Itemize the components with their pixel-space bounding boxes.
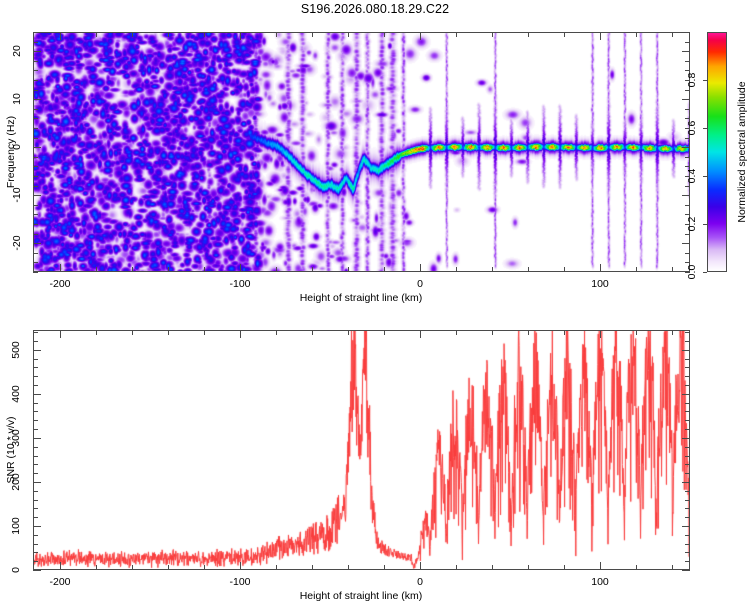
spectrogram-xtick-minor: [312, 267, 313, 272]
spectrogram-ytick-minor: [33, 176, 38, 177]
spectrogram-xtick-minor: [492, 267, 493, 272]
snr-xtick-minor: [276, 565, 277, 570]
spectrogram-ytick-minor: [685, 32, 690, 33]
snr-ytick-minor: [33, 420, 38, 421]
snr-ytick-minor: [685, 403, 690, 404]
figure-title: S196.2026.080.18.29.C22: [0, 2, 750, 16]
spectrogram-ytick-minor: [685, 109, 690, 110]
spectrogram-xtick-major: [240, 32, 241, 40]
snr-ytick-major: [33, 350, 41, 351]
colorbar: [707, 32, 727, 272]
spectrogram-xtick-minor: [636, 32, 637, 37]
snr-xticklabel: -200: [49, 576, 70, 588]
snr-xtick-minor: [492, 330, 493, 335]
colorbar-tick: [703, 128, 707, 129]
snr-yticklabel: 100: [10, 514, 22, 538]
snr-xtick-minor: [672, 565, 673, 570]
snr-ytick-minor: [685, 376, 690, 377]
spectrogram-ytick-minor: [33, 234, 38, 235]
snr-ytick-major: [682, 394, 690, 395]
spectrogram-xtick-major: [60, 32, 61, 40]
snr-ytick-minor: [33, 456, 38, 457]
spectrogram-ytick-minor: [33, 157, 38, 158]
snr-xtick-minor: [96, 565, 97, 570]
spectrogram-xtick-major: [60, 264, 61, 272]
spectrogram-yaxis-title: Frequency (Hz): [5, 116, 17, 188]
snr-ytick-major: [682, 570, 690, 571]
snr-ytick-minor: [33, 367, 38, 368]
spectrogram-ytick-minor: [33, 214, 38, 215]
snr-ytick-minor: [685, 332, 690, 333]
snr-xtick-minor: [636, 565, 637, 570]
spectrogram-panel: [33, 32, 690, 272]
spectrogram-ytick-minor: [33, 32, 38, 33]
spectrogram-ytick-major: [33, 243, 41, 244]
snr-ytick-major: [33, 526, 41, 527]
spectrogram-ytick-major: [682, 51, 690, 52]
colorbar-tick: [703, 272, 707, 273]
snr-ytick-minor: [685, 456, 690, 457]
spectrogram-ytick-minor: [33, 118, 38, 119]
snr-ytick-minor: [685, 491, 690, 492]
snr-xtick-minor: [276, 330, 277, 335]
spectrogram-ytick-major: [682, 99, 690, 100]
spectrogram-xtick-minor: [168, 267, 169, 272]
snr-ytick-minor: [685, 447, 690, 448]
snr-ytick-minor: [33, 517, 38, 518]
snr-ytick-minor: [33, 411, 38, 412]
spectrogram-ytick-minor: [33, 262, 38, 263]
snr-ytick-minor: [33, 552, 38, 553]
snr-yticklabel: 0: [10, 558, 22, 582]
snr-xtick-minor: [672, 330, 673, 335]
snr-ytick-minor: [33, 447, 38, 448]
colorbar-ticklabel: 0.4: [686, 165, 698, 187]
spectrogram-image: [34, 33, 689, 271]
snr-xtick-major: [240, 330, 241, 338]
snr-ytick-minor: [685, 411, 690, 412]
spectrogram-ytick-minor: [685, 42, 690, 43]
spectrogram-xtick-minor: [492, 32, 493, 37]
snr-xtick-minor: [492, 565, 493, 570]
snr-ytick-minor: [685, 359, 690, 360]
spectrogram-xtick-minor: [348, 32, 349, 37]
snr-ytick-minor: [685, 341, 690, 342]
spectrogram-xtick-minor: [456, 267, 457, 272]
spectrogram-ytick-minor: [33, 128, 38, 129]
snr-xticklabel: 0: [417, 576, 423, 588]
spectrogram-yticklabel: 20: [11, 40, 23, 62]
spectrogram-ytick-minor: [33, 224, 38, 225]
snr-ytick-minor: [685, 561, 690, 562]
snr-xaxis-title: Height of straight line (km): [300, 590, 423, 602]
spectrogram-xtick-minor: [204, 32, 205, 37]
spectrogram-ytick-minor: [33, 186, 38, 187]
snr-xtick-major: [600, 562, 601, 570]
snr-yaxis-title: SNR (10 * v/v): [5, 416, 17, 483]
spectrogram-ytick-minor: [33, 80, 38, 81]
spectrogram-yticklabel: -20: [11, 232, 23, 254]
colorbar-ticklabel: 0.2: [686, 213, 698, 235]
snr-ytick-major: [682, 526, 690, 527]
spectrogram-xtick-minor: [564, 267, 565, 272]
snr-xtick-minor: [348, 565, 349, 570]
spectrogram-xtick-minor: [276, 267, 277, 272]
spectrogram-xtick-minor: [312, 32, 313, 37]
figure-root: S196.2026.080.18.29.C22 -200-1000100-20-…: [0, 0, 750, 600]
spectrogram-ytick-major: [682, 195, 690, 196]
spectrogram-ytick-minor: [685, 205, 690, 206]
snr-xticklabel: 100: [591, 576, 609, 588]
spectrogram-ytick-minor: [33, 109, 38, 110]
colorbar-ticklabel: 0.8: [686, 69, 698, 91]
spectrogram-xtick-minor: [528, 32, 529, 37]
snr-ytick-minor: [33, 561, 38, 562]
spectrogram-xtick-major: [420, 32, 421, 40]
snr-ytick-minor: [685, 544, 690, 545]
spectrogram-ytick-minor: [33, 138, 38, 139]
spectrogram-ytick-major: [33, 195, 41, 196]
snr-xtick-minor: [564, 565, 565, 570]
spectrogram-xtick-major: [600, 264, 601, 272]
snr-ytick-minor: [685, 535, 690, 536]
spectrogram-xtick-minor: [96, 32, 97, 37]
spectrogram-xticklabel: -200: [49, 278, 70, 290]
spectrogram-xtick-minor: [168, 32, 169, 37]
snr-xtick-minor: [132, 330, 133, 335]
spectrogram-ytick-major: [33, 147, 41, 148]
snr-xtick-major: [420, 330, 421, 338]
spectrogram-ytick-minor: [33, 166, 38, 167]
spectrogram-plot-area: [34, 33, 689, 271]
snr-ytick-minor: [685, 420, 690, 421]
snr-ytick-minor: [33, 376, 38, 377]
snr-ytick-minor: [33, 464, 38, 465]
snr-ytick-minor: [685, 367, 690, 368]
spectrogram-xtick-minor: [672, 267, 673, 272]
spectrogram-ytick-minor: [685, 61, 690, 62]
spectrogram-xticklabel: -100: [229, 278, 250, 290]
snr-trace: [34, 331, 689, 569]
snr-xtick-minor: [564, 330, 565, 335]
spectrogram-ytick-minor: [33, 61, 38, 62]
snr-xtick-minor: [132, 565, 133, 570]
snr-ytick-minor: [685, 429, 690, 430]
snr-xtick-major: [600, 330, 601, 338]
snr-ytick-minor: [685, 464, 690, 465]
snr-ytick-minor: [685, 473, 690, 474]
spectrogram-xticklabel: 100: [591, 278, 609, 290]
snr-ytick-minor: [33, 544, 38, 545]
snr-ytick-major: [682, 438, 690, 439]
spectrogram-xtick-minor: [132, 267, 133, 272]
snr-xtick-major: [60, 562, 61, 570]
spectrogram-xtick-major: [420, 264, 421, 272]
snr-xtick-minor: [636, 330, 637, 335]
spectrogram-xtick-minor: [528, 267, 529, 272]
snr-ytick-minor: [33, 508, 38, 509]
spectrogram-ytick-minor: [33, 272, 38, 273]
snr-ytick-major: [33, 394, 41, 395]
snr-ytick-minor: [33, 359, 38, 360]
spectrogram-ytick-minor: [33, 42, 38, 43]
snr-xtick-major: [60, 330, 61, 338]
snr-ytick-minor: [33, 473, 38, 474]
colorbar-title: Normalized spectral amplitude: [736, 81, 748, 222]
spectrogram-xtick-minor: [672, 32, 673, 37]
snr-ytick-minor: [33, 332, 38, 333]
spectrogram-ytick-major: [682, 147, 690, 148]
snr-xticklabel: -100: [229, 576, 250, 588]
snr-xtick-minor: [204, 330, 205, 335]
snr-ytick-minor: [33, 403, 38, 404]
snr-panel: [33, 330, 690, 570]
snr-xtick-minor: [96, 330, 97, 335]
snr-xtick-minor: [456, 330, 457, 335]
spectrogram-ytick-major: [33, 51, 41, 52]
spectrogram-xticklabel: 0: [417, 278, 423, 290]
snr-xtick-minor: [384, 330, 385, 335]
colorbar-gradient: [708, 33, 726, 271]
spectrogram-yticklabel: 10: [11, 88, 23, 110]
snr-ytick-major: [33, 570, 41, 571]
spectrogram-xtick-minor: [96, 267, 97, 272]
snr-ytick-minor: [685, 517, 690, 518]
snr-xtick-minor: [312, 330, 313, 335]
snr-ytick-minor: [33, 500, 38, 501]
snr-ytick-minor: [33, 385, 38, 386]
snr-ytick-minor: [685, 552, 690, 553]
spectrogram-xtick-minor: [384, 267, 385, 272]
snr-xtick-minor: [168, 330, 169, 335]
snr-xtick-minor: [528, 330, 529, 335]
colorbar-tick: [703, 80, 707, 81]
spectrogram-xaxis-title: Height of straight line (km): [300, 292, 423, 304]
spectrogram-ytick-minor: [33, 90, 38, 91]
snr-ytick-major: [682, 482, 690, 483]
snr-plot-area: [34, 331, 689, 569]
snr-ytick-minor: [685, 508, 690, 509]
colorbar-ticklabel: 0.0: [686, 261, 698, 283]
snr-xtick-minor: [312, 565, 313, 570]
snr-xtick-minor: [528, 565, 529, 570]
snr-ytick-minor: [685, 500, 690, 501]
snr-ytick-minor: [33, 429, 38, 430]
snr-ytick-minor: [685, 385, 690, 386]
spectrogram-xtick-minor: [384, 32, 385, 37]
spectrogram-xtick-major: [240, 264, 241, 272]
snr-ytick-minor: [33, 491, 38, 492]
snr-xtick-minor: [384, 565, 385, 570]
snr-yticklabel: 500: [10, 338, 22, 362]
spectrogram-xtick-minor: [456, 32, 457, 37]
snr-xtick-minor: [204, 565, 205, 570]
snr-ytick-major: [33, 438, 41, 439]
snr-ytick-major: [33, 482, 41, 483]
spectrogram-ytick-minor: [685, 157, 690, 158]
snr-xtick-minor: [348, 330, 349, 335]
spectrogram-xtick-minor: [204, 267, 205, 272]
spectrogram-xtick-minor: [348, 267, 349, 272]
spectrogram-ytick-minor: [33, 205, 38, 206]
colorbar-ticklabel: 0.6: [686, 117, 698, 139]
snr-xtick-minor: [456, 565, 457, 570]
snr-yticklabel: 400: [10, 382, 22, 406]
spectrogram-ytick-major: [682, 243, 690, 244]
snr-xtick-major: [240, 562, 241, 570]
snr-ytick-minor: [33, 535, 38, 536]
spectrogram-xtick-major: [600, 32, 601, 40]
colorbar-tick: [703, 176, 707, 177]
spectrogram-xtick-minor: [276, 32, 277, 37]
spectrogram-ytick-minor: [33, 253, 38, 254]
spectrogram-xtick-minor: [564, 32, 565, 37]
snr-xtick-major: [420, 562, 421, 570]
spectrogram-xtick-minor: [132, 32, 133, 37]
spectrogram-ytick-minor: [685, 253, 690, 254]
spectrogram-ytick-minor: [33, 70, 38, 71]
snr-ytick-minor: [33, 341, 38, 342]
snr-ytick-major: [682, 350, 690, 351]
snr-xtick-minor: [168, 565, 169, 570]
spectrogram-ytick-major: [33, 99, 41, 100]
spectrogram-xtick-minor: [636, 267, 637, 272]
colorbar-tick: [703, 224, 707, 225]
